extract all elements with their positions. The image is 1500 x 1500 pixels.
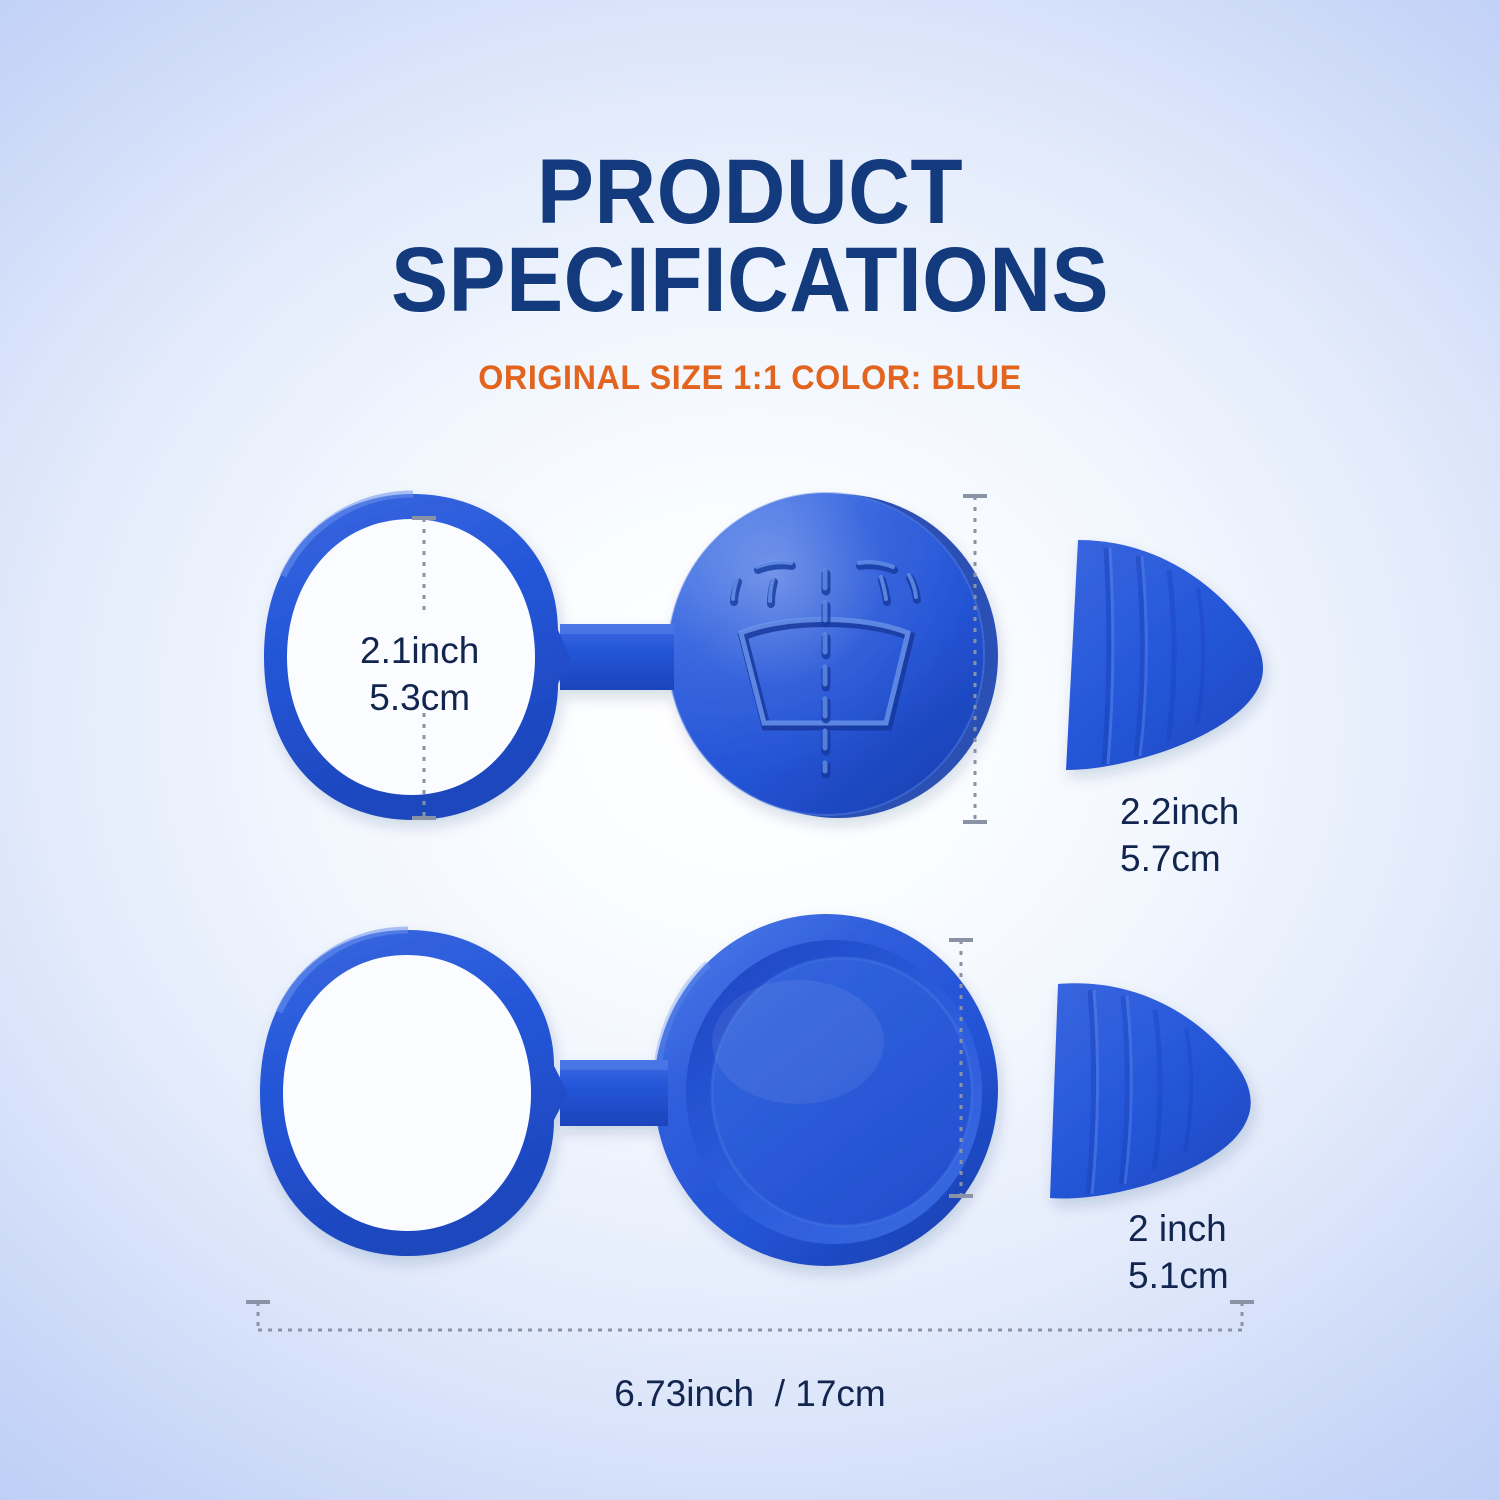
pull-tab-top [1066,540,1263,770]
title-line-2: SPECIFICATIONS [53,236,1448,324]
ring-top-cm: 5.3cm [360,674,479,721]
ring-top-inch: 2.1inch [360,627,479,674]
subtitle: ORIGINAL SIZE 1:1 COLOR: BLUE [38,359,1463,398]
page-title: PRODUCT SPECIFICATIONS [53,148,1448,325]
product-specification-image: PRODUCT SPECIFICATIONS ORIGINAL SIZE 1:1… [0,0,1500,1500]
guide-overall-length [246,1302,1254,1330]
cap-top-cm: 5.7cm [1120,835,1239,882]
dimension-label-cap-bottom: 2 inch 5.1cm [1128,1205,1229,1300]
cap-bottom-inch: 2 inch [1128,1205,1229,1252]
retaining-ring-bottom [260,930,568,1256]
product-bottom-view [238,912,1268,1292]
cap-top-inch: 2.2inch [1120,788,1239,835]
header: PRODUCT SPECIFICATIONS ORIGINAL SIZE 1:1… [0,148,1500,398]
dimension-label-cap-top: 2.2inch 5.7cm [1120,788,1239,883]
pull-tab-bottom [1050,983,1251,1198]
cap-bottom-cm: 5.1cm [1128,1252,1229,1299]
dimension-label-ring-top: 2.1inch 5.3cm [360,627,479,722]
strap-highlight-bottom [560,1060,668,1070]
title-line-1: PRODUCT [537,141,963,243]
dimension-label-overall: 6.73inch / 17cm [0,1373,1500,1415]
strap-highlight-top [560,624,674,634]
